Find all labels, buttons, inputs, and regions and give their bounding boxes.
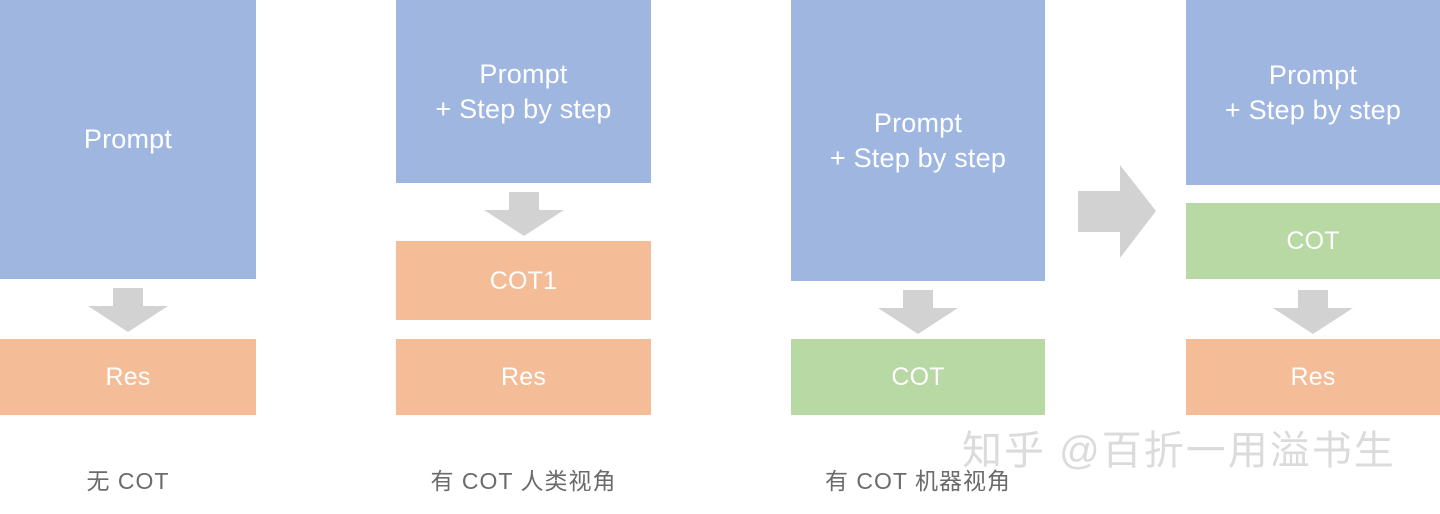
box-col1-res: Res (0, 339, 256, 415)
box-col1-prompt-label: Prompt (84, 122, 172, 157)
arrow-down-icon-col1 (78, 288, 178, 332)
box-col2-res: Res (396, 339, 651, 415)
box-col1-prompt: Prompt (0, 0, 256, 279)
box-col2-cot1: COT1 (396, 241, 651, 320)
arrow-right-icon-col3-to-col4 (1078, 165, 1156, 258)
box-col3-cot-label: COT (891, 361, 944, 393)
caption-col3: 有 COT 机器视角 (791, 462, 1045, 496)
box-col4-prompt-step-label: Prompt + Step by step (1225, 58, 1401, 127)
arrow-down-icon-col3 (868, 290, 968, 334)
arrow-down-icon-col2 (474, 192, 574, 236)
box-col1-res-label: Res (105, 361, 150, 393)
box-col3-prompt-step: Prompt + Step by step (791, 0, 1045, 281)
box-col4-res-label: Res (1290, 361, 1335, 393)
box-col4-res: Res (1186, 339, 1440, 415)
diagram-canvas: Prompt Res 无 COT Prompt + Step by step C… (0, 0, 1440, 514)
box-col4-cot: COT (1186, 203, 1440, 279)
box-col2-prompt-step-label: Prompt + Step by step (435, 57, 611, 126)
box-col2-res-label: Res (501, 361, 546, 393)
box-col4-prompt-step: Prompt + Step by step (1186, 0, 1440, 185)
box-col2-cot1-label: COT1 (490, 265, 557, 297)
box-col3-prompt-step-label: Prompt + Step by step (830, 106, 1006, 175)
box-col2-prompt-step: Prompt + Step by step (396, 0, 651, 183)
caption-col1: 无 COT (0, 462, 256, 496)
arrow-down-icon-col4 (1263, 290, 1363, 334)
caption-col2: 有 COT 人类视角 (396, 462, 651, 496)
box-col3-cot: COT (791, 339, 1045, 415)
box-col4-cot-label: COT (1286, 225, 1339, 257)
